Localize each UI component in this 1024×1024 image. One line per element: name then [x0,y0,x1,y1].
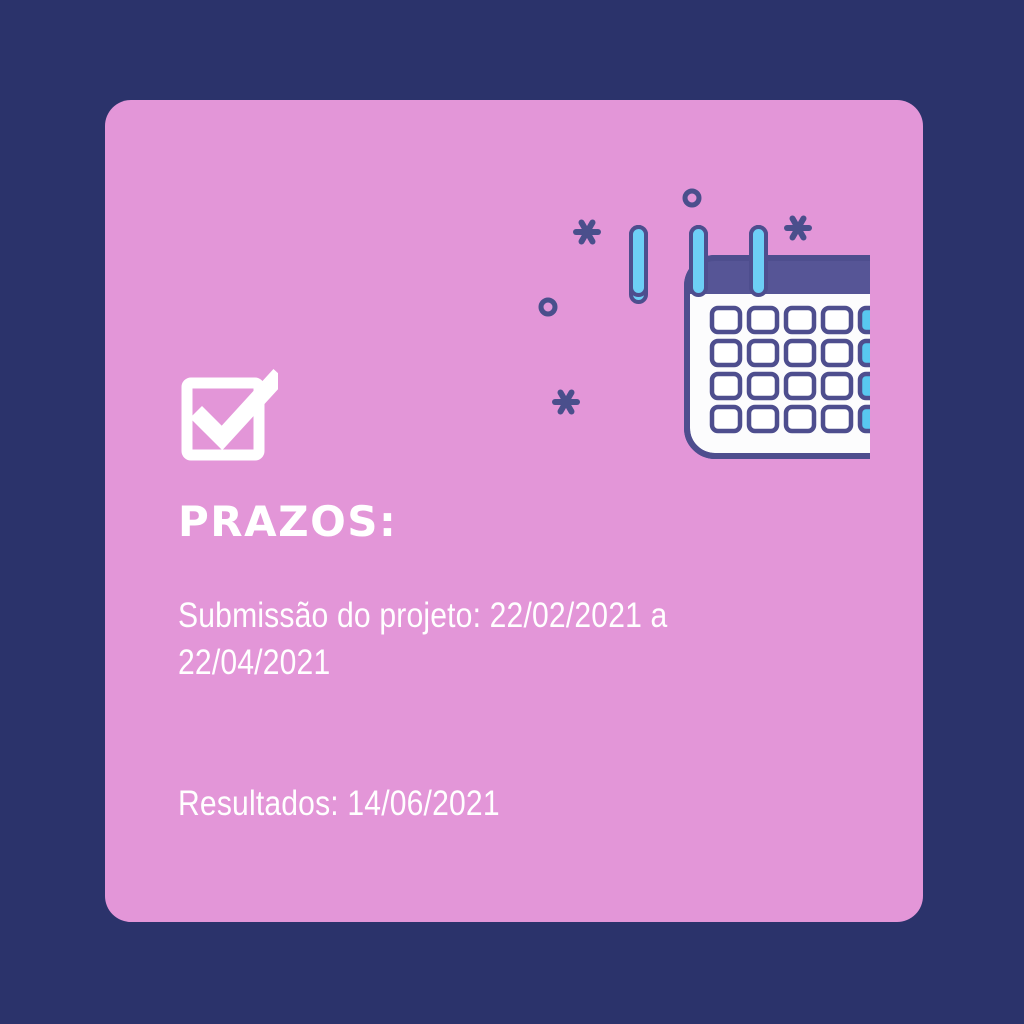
calendar-day-cell [712,407,740,431]
submission-deadline-line-1: Submissão do projeto: 22/02/2021 a [178,592,746,639]
calendar-ring-front-3 [751,227,766,295]
calendar-day-cell [712,374,740,398]
calendar-day-cell [749,341,777,365]
calendar-day-cell [823,341,851,365]
calendar-day-cell [823,407,851,431]
calendar-header-bar [687,258,870,294]
text-block: PRAZOS: Submissão do projeto: 22/02/2021… [178,500,838,827]
calendar-day-cell [749,407,777,431]
calendar-ring-front-1 [631,227,646,295]
slide-canvas: PRAZOS: Submissão do projeto: 22/02/2021… [0,0,1024,1024]
calendar-day-cell-highlighted [860,374,870,398]
submission-deadline-paragraph: Submissão do projeto: 22/02/2021 a 22/04… [178,592,838,686]
content-card: PRAZOS: Submissão do projeto: 22/02/2021… [105,100,923,922]
calendar-day-cell [712,341,740,365]
calendar-day-cell-highlighted [860,341,870,365]
paragraph-spacer [178,686,838,733]
calendar-day-cell [786,374,814,398]
calendar-day-cell [712,308,740,332]
decorative-circle-left [541,300,555,314]
calendar-day-cell [823,374,851,398]
calendar-day-cell [786,407,814,431]
submission-deadline-line-2: 22/04/2021 [178,639,746,686]
calendar-illustration [530,180,870,490]
calendar-day-cell [749,374,777,398]
calendar-day-cell [823,308,851,332]
decorative-circle-top [685,191,699,205]
page-title: PRAZOS: [178,500,838,544]
sparkle-bottom-left [555,393,577,412]
results-date-paragraph: Resultados: 14/06/2021 [178,780,838,827]
calendar-day-cell [786,341,814,365]
calendar-day-cell-highlighted [860,308,870,332]
calendar-ring-front-2 [691,227,706,295]
calendar-day-cell [786,308,814,332]
checkbox-checked-icon [178,368,278,468]
sparkle-top-right [787,219,809,238]
calendar-day-cell [749,308,777,332]
results-date-line-1: Resultados: 14/06/2021 [178,780,746,827]
calendar-day-cell-highlighted [860,407,870,431]
sparkle-top-left [576,223,598,242]
